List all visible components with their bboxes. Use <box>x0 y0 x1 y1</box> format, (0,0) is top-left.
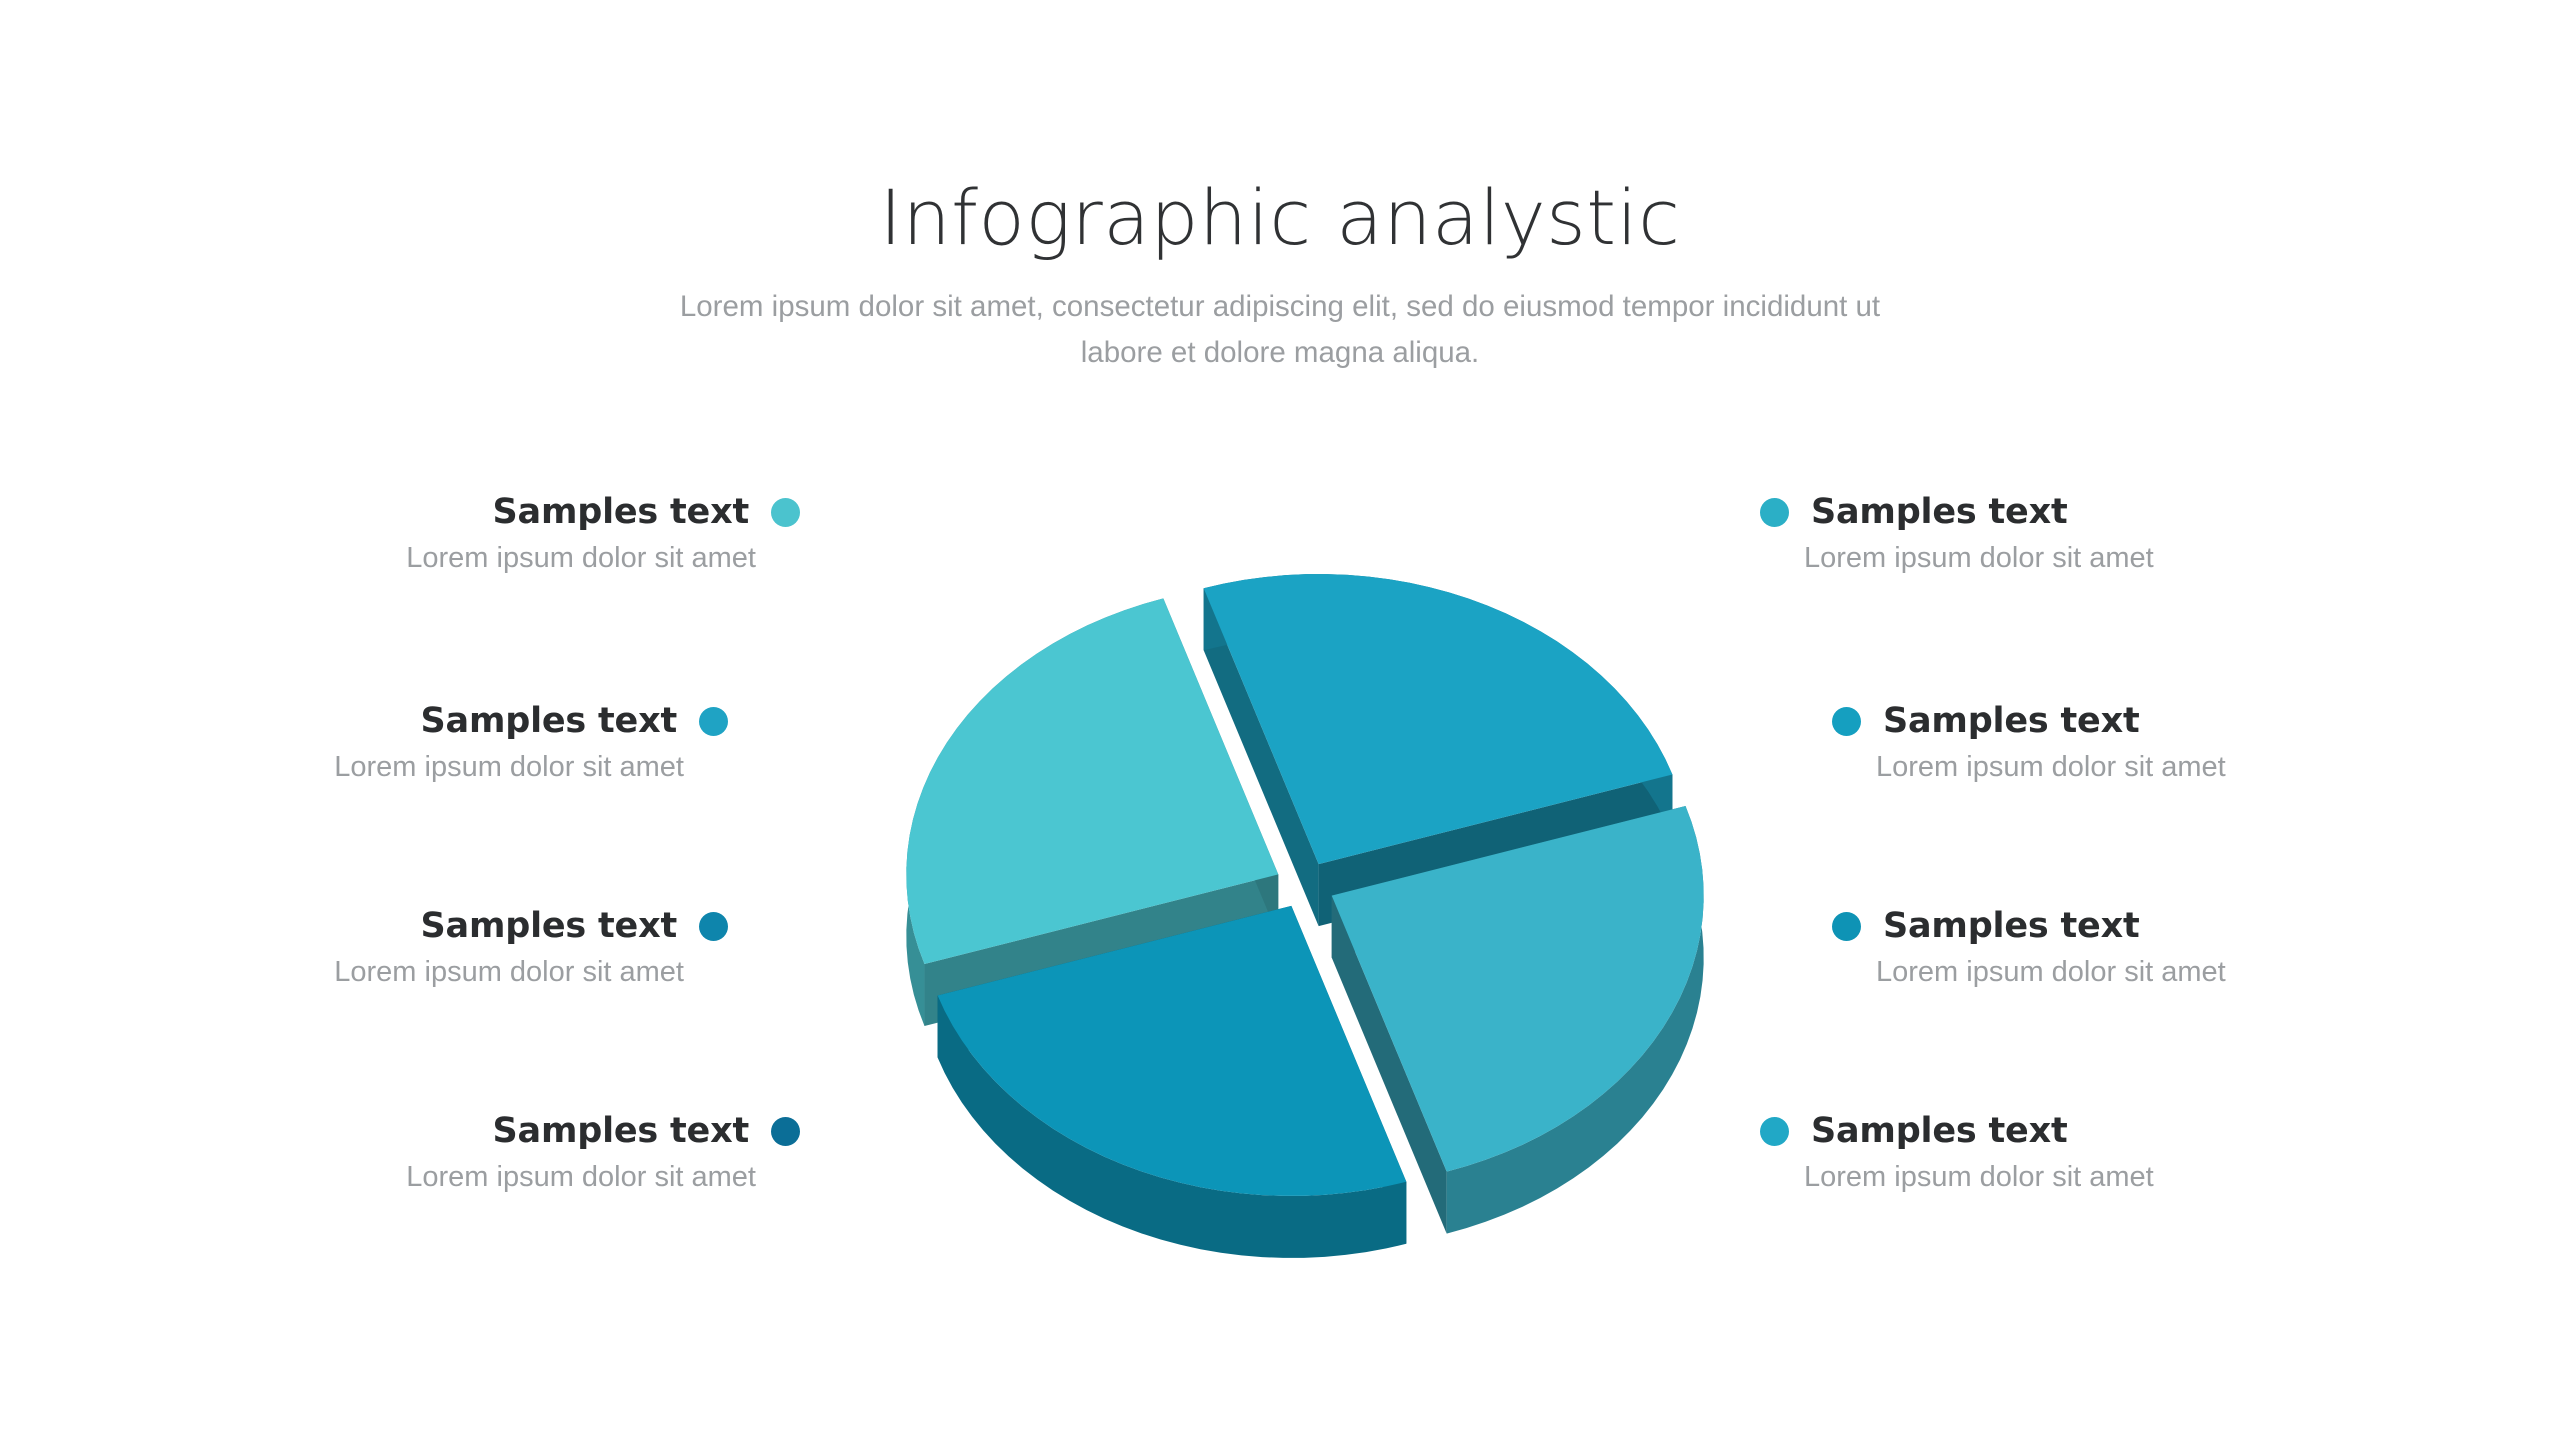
legend-item-header: Samples text <box>1760 701 2460 741</box>
legend-item-left-1[interactable]: Samples text Lorem ipsum dolor sit amet <box>120 492 800 604</box>
legend-item-left-2[interactable]: Samples text Lorem ipsum dolor sit amet <box>120 701 800 813</box>
bullet-dot-icon <box>699 912 728 941</box>
legend-item-header: Samples text <box>120 906 800 946</box>
bullet-dot-icon <box>699 707 728 736</box>
legend-item-title: Samples text <box>421 701 677 741</box>
header: Infographic analystic Lorem ipsum dolor … <box>0 178 2560 377</box>
legend-item-left-3[interactable]: Samples text Lorem ipsum dolor sit amet <box>120 906 800 1018</box>
page-subtitle: Lorem ipsum dolor sit amet, consectetur … <box>660 284 1900 377</box>
legend-item-right-2[interactable]: Samples text Lorem ipsum dolor sit amet <box>1760 701 2460 813</box>
legend-item-subtitle: Lorem ipsum dolor sit amet <box>120 751 800 784</box>
legend-item-subtitle: Lorem ipsum dolor sit amet <box>1760 956 2460 989</box>
legend-item-title: Samples text <box>1811 1111 2067 1151</box>
pie-chart-svg <box>790 490 1820 1330</box>
legend-item-subtitle: Lorem ipsum dolor sit amet <box>120 542 800 575</box>
legend-item-left-4[interactable]: Samples text Lorem ipsum dolor sit amet <box>120 1111 800 1223</box>
legend-item-subtitle: Lorem ipsum dolor sit amet <box>1760 542 2460 575</box>
legend-item-header: Samples text <box>1760 906 2460 946</box>
legend-item-header: Samples text <box>1760 492 2460 532</box>
legend-item-subtitle: Lorem ipsum dolor sit amet <box>1760 1161 2460 1194</box>
legend-item-title: Samples text <box>1883 906 2139 946</box>
legend-item-header: Samples text <box>120 1111 800 1151</box>
legend-item-title: Samples text <box>1811 492 2067 532</box>
legend-item-header: Samples text <box>120 492 800 532</box>
legend-item-subtitle: Lorem ipsum dolor sit amet <box>1760 751 2460 784</box>
infographic-slide: Infographic analystic Lorem ipsum dolor … <box>0 0 2560 1440</box>
legend-item-title: Samples text <box>493 492 749 532</box>
legend-item-header: Samples text <box>1760 1111 2460 1151</box>
legend-item-right-3[interactable]: Samples text Lorem ipsum dolor sit amet <box>1760 906 2460 1018</box>
legend-item-title: Samples text <box>1883 701 2139 741</box>
bullet-dot-icon <box>1832 707 1861 736</box>
legend-item-header: Samples text <box>120 701 800 741</box>
legend-item-subtitle: Lorem ipsum dolor sit amet <box>120 956 800 989</box>
page-title: Infographic analystic <box>0 178 2560 258</box>
legend-item-right-1[interactable]: Samples text Lorem ipsum dolor sit amet <box>1760 492 2460 604</box>
legend-item-title: Samples text <box>421 906 677 946</box>
pie-chart-3d[interactable] <box>790 490 1820 1330</box>
legend-item-subtitle: Lorem ipsum dolor sit amet <box>120 1161 800 1194</box>
legend-item-right-4[interactable]: Samples text Lorem ipsum dolor sit amet <box>1760 1111 2460 1223</box>
bullet-dot-icon <box>1832 912 1861 941</box>
legend-item-title: Samples text <box>493 1111 749 1151</box>
